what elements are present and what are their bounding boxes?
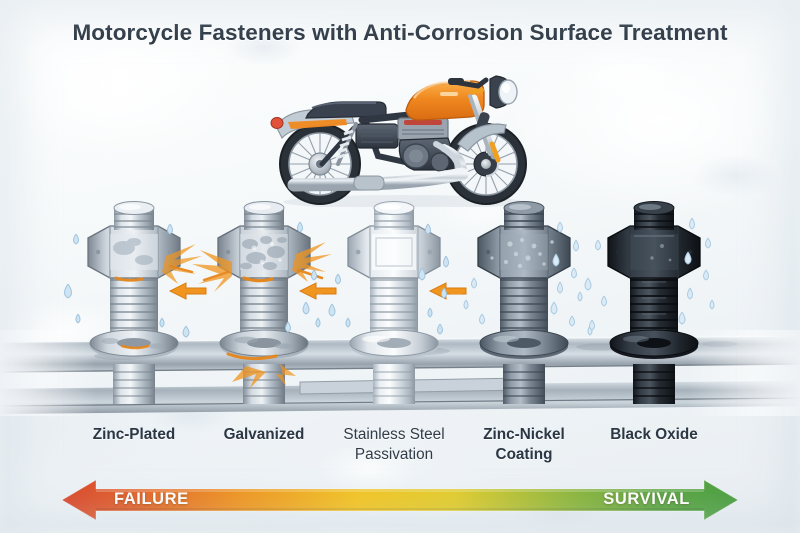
- infographic-canvas: Motorcycle Fasteners with Anti-Corrosion…: [0, 0, 800, 533]
- rust-arrow-icon: [450, 290, 462, 294]
- washer: [350, 330, 438, 359]
- scale-left-label: FAILURE: [114, 490, 189, 509]
- motorcycle-illustration: [258, 52, 548, 207]
- stud-cap: [374, 202, 414, 231]
- washer: [90, 330, 178, 359]
- failure-survival-scale: FAILURE SURVIVAL: [62, 478, 738, 522]
- hex-nut: [478, 226, 570, 278]
- stud-cap: [244, 202, 284, 231]
- stud-cap: [504, 202, 544, 231]
- scale-right-label: SURVIVAL: [603, 490, 690, 509]
- hex-nut: [348, 226, 440, 278]
- stud-cap: [634, 202, 674, 231]
- page-title: Motorcycle Fasteners with Anti-Corrosion…: [0, 20, 800, 46]
- hex-nut: [608, 226, 700, 278]
- washer: [480, 330, 568, 359]
- fastener-labels: Zinc-Plated Galvanized Stainless Steel P…: [0, 425, 800, 477]
- label-black-oxide: Black Oxide: [578, 425, 730, 445]
- washer: [610, 330, 698, 359]
- fastener-black-oxide: [578, 196, 730, 406]
- stud-cap: [114, 202, 154, 231]
